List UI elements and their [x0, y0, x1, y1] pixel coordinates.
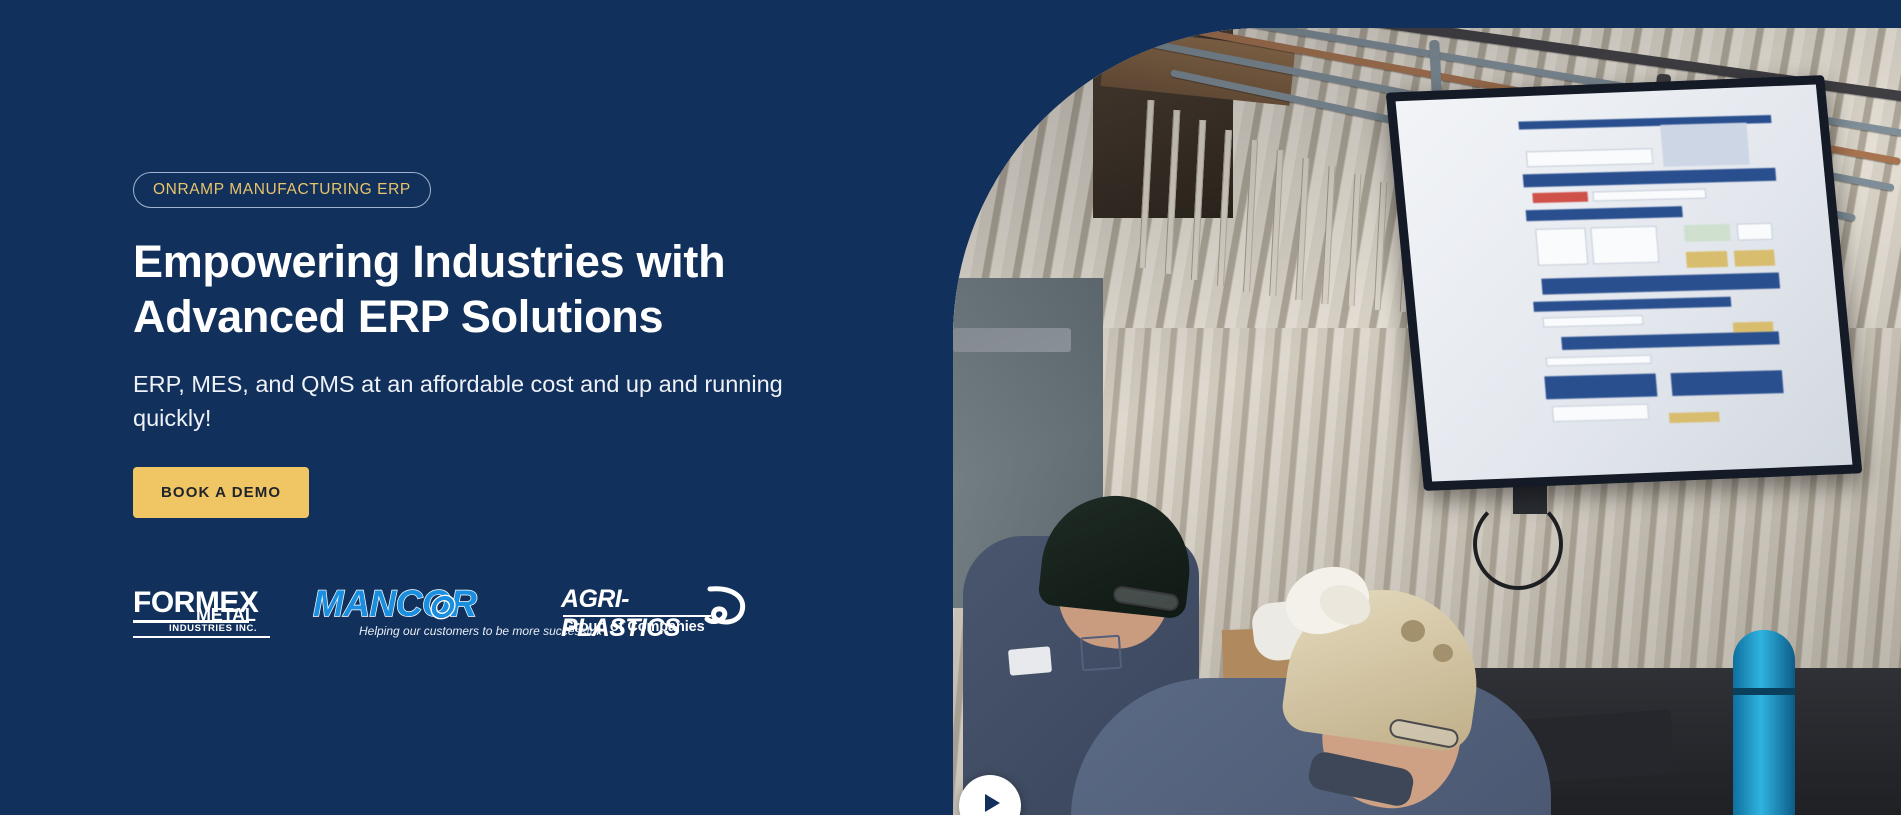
monitor-cable [1473, 498, 1563, 590]
worker-b-hat-detail-1 [1401, 620, 1425, 642]
hero-content: ONRAMP MANUFACTURING ERP Empowering Indu… [133, 0, 893, 815]
hero-media [953, 0, 1901, 815]
headline-line-2: Advanced ERP Solutions [133, 291, 663, 342]
factory-photo-inner [953, 28, 1901, 815]
wall-mounted-monitor [1386, 75, 1863, 491]
play-icon [985, 794, 1000, 812]
erp-software-ui [1518, 115, 1797, 449]
headline-line-1: Empowering Industries with [133, 236, 725, 287]
logo-mancor: MANCOR Helping our customers to be more … [313, 581, 561, 643]
worker-a-name-badge [1008, 646, 1052, 676]
media-top-bar [953, 0, 1901, 28]
logo-agri-plastics: AGRI-PLASTICS Group of Companies [561, 581, 781, 643]
agri-group-text: Group of Companies [563, 619, 705, 635]
formex-industries-text: INDUSTRIES INC. [169, 623, 257, 634]
agri-divider [563, 615, 711, 618]
factory-photo [953, 28, 1901, 815]
hero-subheadline: ERP, MES, and QMS at an affordable cost … [133, 367, 788, 435]
worker-b-hat-detail-2 [1433, 644, 1453, 662]
formex-divider-bottom [133, 636, 270, 638]
client-logo-strip: FORMEX METAL INDUSTRIES INC. MANCOR Help… [133, 581, 893, 643]
logo-formex: FORMEX METAL INDUSTRIES INC. [133, 581, 313, 643]
hero-section: ONRAMP MANUFACTURING ERP Empowering Indu… [0, 0, 1901, 815]
blue-thermos [1733, 630, 1795, 815]
agri-swoosh-icon [702, 583, 750, 639]
worker-a-pocket [1080, 635, 1122, 672]
monitor-screen [1396, 84, 1853, 481]
eyebrow-badge: ONRAMP MANUFACTURING ERP [133, 172, 431, 208]
book-a-demo-button[interactable]: BOOK A DEMO [133, 467, 309, 518]
thermos-band [1733, 688, 1795, 695]
page-title: Empowering Industries with Advanced ERP … [133, 235, 753, 345]
